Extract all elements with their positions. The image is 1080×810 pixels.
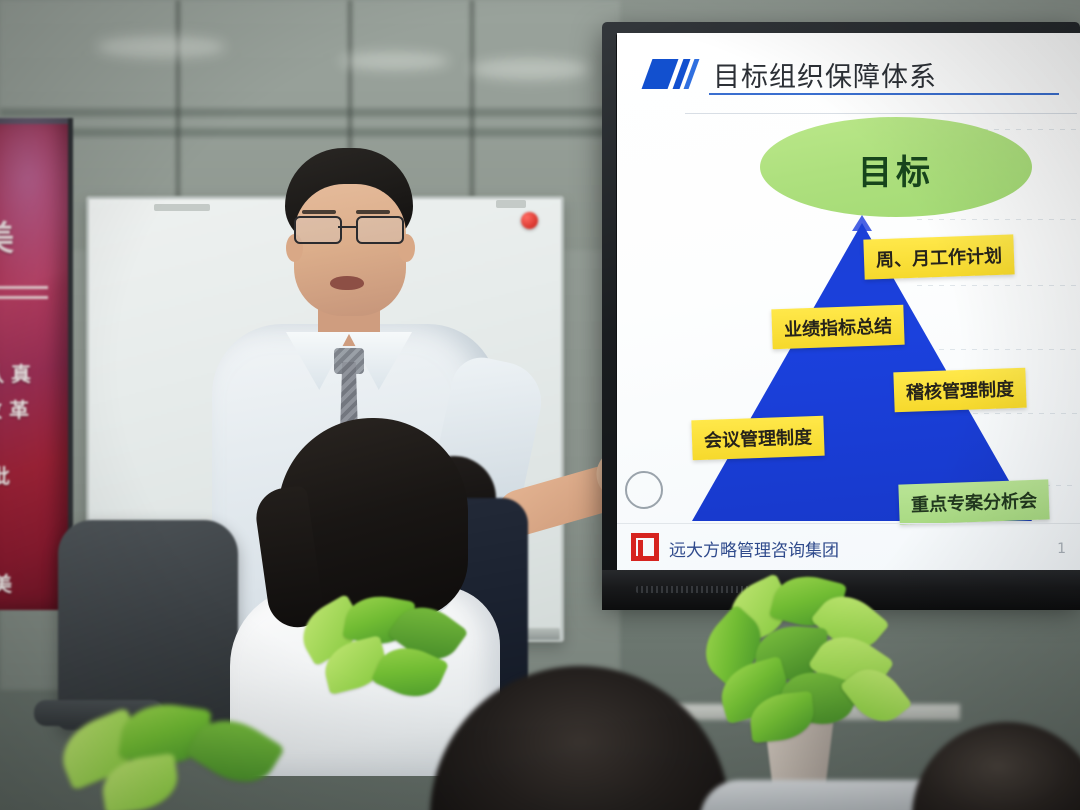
eyeglasses-icon [294,216,408,240]
slide-title-underline [709,93,1059,95]
slide-secondary-rule [685,113,1077,114]
slide-title: 目标组织保障体系 [713,55,937,94]
presenter-mouth [330,276,364,290]
presenter-brow-right [356,210,390,214]
gray-circle-outline-icon [625,471,663,509]
blue-slash-logo-icon [647,59,699,89]
office-chair [58,520,238,730]
banner-character-4: ， [0,530,8,550]
presentation-slide[interactable]: 目标组织保障体系 目标 周、月工作计划 业绩指标总结 稽核管理制度 会议管理制度… [617,33,1080,570]
red-square-logo-icon [631,533,659,561]
slide-footer-divider [617,523,1080,524]
callout-box-3[interactable]: 稽核管理制度 [893,368,1026,413]
goal-label: 目标 [760,145,1032,194]
slide-page-number: 1 [1057,541,1066,557]
red-magnet-icon [521,212,538,229]
goal-ellipse: 目标 [760,117,1032,217]
presentation-room-photo: 美 认 真 改 革 批 ， 美 [0,0,1080,810]
banner-character-1: 认 真 [0,364,31,384]
callout-box-5[interactable]: 重点专案分析会 [898,479,1049,524]
presenter-brow-left [302,210,336,214]
callout-box-2[interactable]: 业绩指标总结 [771,305,904,350]
banner-character-3: 批 [0,466,10,486]
foreground-plant [60,700,320,810]
banner-character-2: 改 革 [0,400,29,420]
banner-character-5: 美 [0,574,12,594]
banner-glow [0,118,73,298]
callout-box-4[interactable]: 会议管理制度 [691,416,824,461]
presenter-face [294,184,406,316]
banner-character-large: 美 [0,222,14,256]
company-name: 远大方略管理咨询集团 [669,536,839,561]
callout-box-1[interactable]: 周、月工作计划 [863,234,1014,279]
